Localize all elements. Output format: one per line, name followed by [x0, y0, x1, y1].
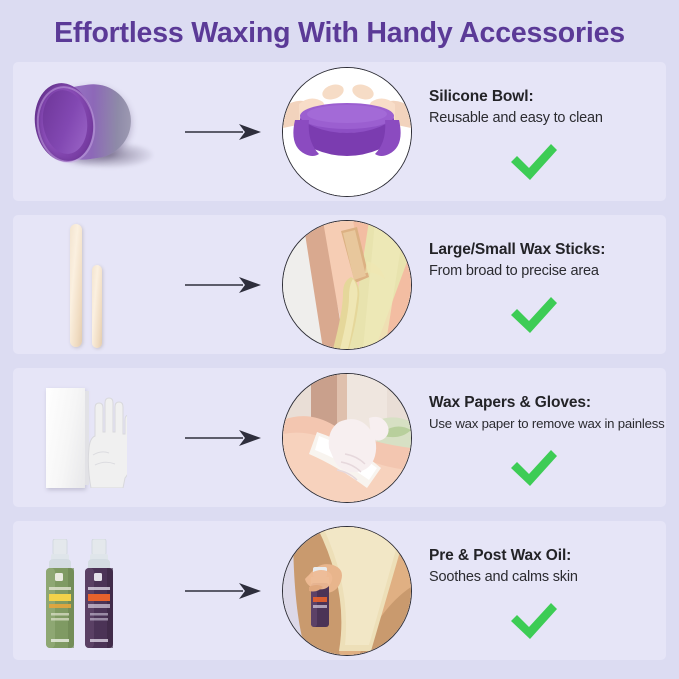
glove-icon [79, 393, 127, 488]
small-wax-stick-icon [92, 265, 102, 348]
arrow-cell [173, 580, 273, 602]
wax-paper-photo-art [283, 374, 411, 502]
check-wrap [507, 295, 561, 337]
product-image-silicone-bowl [13, 62, 173, 201]
check-wrap [507, 601, 561, 643]
green-check-icon [507, 448, 561, 490]
right-arrow-icon [183, 121, 263, 143]
product-image-pre-and-post-wax-oil-bottles [13, 521, 173, 660]
feature-title: Pre & Post Wax Oil: [429, 547, 571, 565]
feature-rows: Silicone Bowl: Reusable and easy to clea… [0, 62, 679, 660]
right-arrow-icon [183, 427, 263, 449]
right-arrow-icon [183, 274, 263, 296]
feature-description: From broad to precise area [429, 263, 599, 279]
text-cell: Silicone Bowl: Reusable and easy to clea… [421, 62, 666, 201]
green-check-icon [507, 295, 561, 337]
feature-title: Wax Papers & Gloves: [429, 394, 591, 412]
feature-row: Large/Small Wax Sticks: From broad to pr… [13, 215, 666, 354]
arrow-cell [173, 274, 273, 296]
green-check-icon [507, 601, 561, 643]
feature-title: Silicone Bowl: [429, 88, 534, 106]
spray-photo-art [283, 527, 411, 655]
right-arrow-icon [183, 580, 263, 602]
photo-cell [273, 67, 421, 197]
after-wax-bottle-icon [80, 539, 118, 651]
page-title: Effortless Waxing With Handy Accessories [54, 17, 625, 50]
feature-title: Large/Small Wax Sticks: [429, 241, 605, 259]
header: Effortless Waxing With Handy Accessories [0, 0, 679, 62]
text-cell: Wax Papers & Gloves: Use wax paper to re… [421, 368, 666, 507]
feature-row: Wax Papers & Gloves: Use wax paper to re… [13, 368, 666, 507]
check-wrap [507, 448, 561, 490]
hands-squeezing-silicone-bowl-photo [282, 67, 412, 197]
product-image-wax-papers-and-glove [13, 368, 173, 507]
product-image-wax-sticks [13, 215, 173, 354]
photo-cell [273, 526, 421, 656]
green-check-icon [507, 142, 561, 184]
arrow-cell [173, 121, 273, 143]
bowl-photo-art [283, 68, 411, 196]
feature-description: Reusable and easy to clean [429, 110, 603, 126]
feature-description: Soothes and calms skin [429, 569, 578, 585]
gloved-hand-pressing-wax-paper-photo [282, 373, 412, 503]
feature-description: Use wax paper to remove wax in painless [429, 416, 665, 431]
photo-cell [273, 220, 421, 350]
feature-row: Pre & Post Wax Oil: Soothes and calms sk… [13, 521, 666, 660]
pre-wax-bottle-icon [41, 539, 79, 651]
check-wrap [507, 142, 561, 184]
large-wax-stick-icon [70, 224, 82, 347]
text-cell: Pre & Post Wax Oil: Soothes and calms sk… [421, 521, 666, 660]
spraying-wax-oil-on-skin-photo [282, 526, 412, 656]
wax-stick-photo-art [283, 221, 411, 349]
text-cell: Large/Small Wax Sticks: From broad to pr… [421, 215, 666, 354]
wax-stick-applying-wax-on-leg-photo [282, 220, 412, 350]
feature-row: Silicone Bowl: Reusable and easy to clea… [13, 62, 666, 201]
photo-cell [273, 373, 421, 503]
arrow-cell [173, 427, 273, 449]
